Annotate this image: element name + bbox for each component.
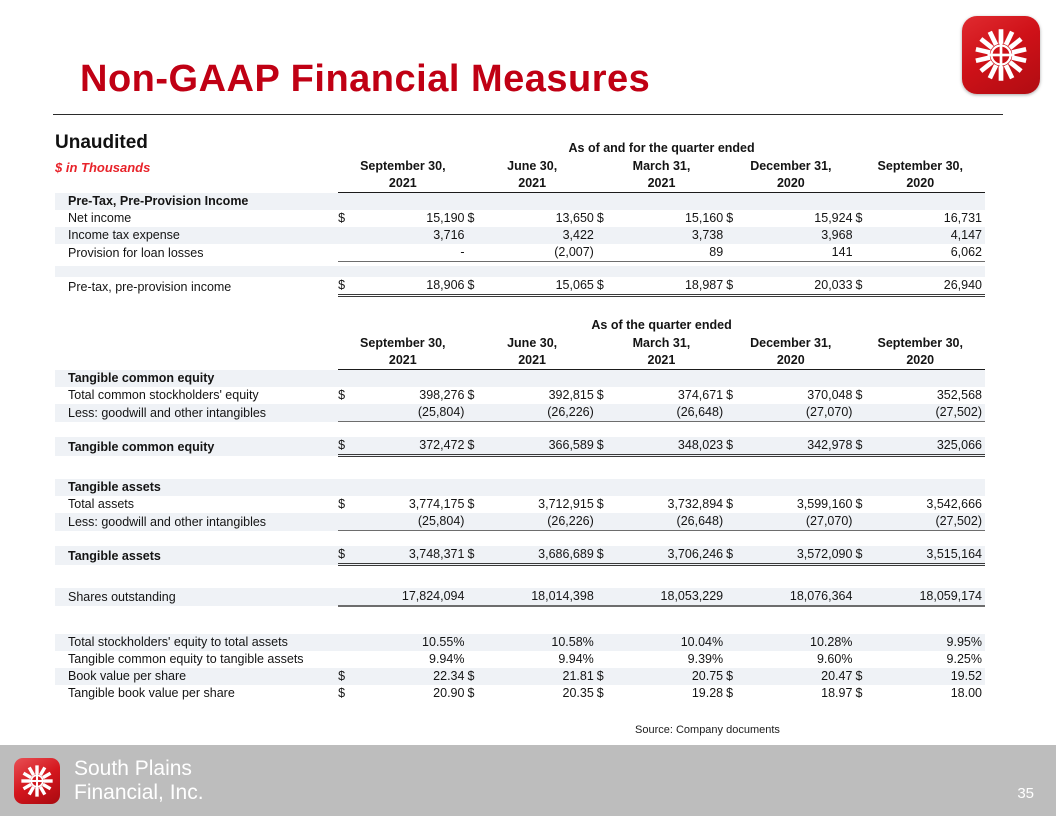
cell-value: 18,076,364 — [744, 588, 855, 606]
currency-symbol: $ — [338, 496, 356, 513]
currency-symbol: $ — [338, 277, 356, 296]
cell-value: 18,014,398 — [486, 588, 597, 606]
cell-value: 370,048 — [744, 387, 855, 404]
cell-value: 366,589 — [486, 437, 597, 456]
cell-value: 18,987 — [615, 277, 726, 296]
cell-value: - — [356, 244, 467, 262]
cell-value: 9.95% — [874, 634, 985, 651]
cell-value: 10.28% — [744, 634, 855, 651]
cell-value: 352,568 — [874, 387, 985, 404]
currency-symbol: $ — [467, 496, 485, 513]
row-label: Tangible book value per share — [55, 685, 338, 702]
cell-value: (27,502) — [874, 513, 985, 531]
company-name: South Plains Financial, Inc. — [74, 757, 204, 805]
currency-symbol: $ — [338, 387, 356, 404]
cell-value: 141 — [745, 244, 856, 262]
table2-col-1: June 30,2021 — [467, 335, 596, 370]
currency-symbol: $ — [597, 387, 615, 404]
cell-value: 13,650 — [486, 210, 597, 227]
cell-value: (2,007) — [486, 244, 597, 262]
row-label: Pre-tax, pre-provision income — [55, 277, 338, 296]
table-row: Net income $ 15,190 $ 13,650 $ 15,160 $ … — [55, 210, 985, 227]
table1-span-header-row: As of and for the quarter ended — [55, 140, 985, 158]
table1-col-0: September 30,2021 — [338, 158, 467, 193]
currency-symbol: $ — [338, 210, 356, 227]
cell-value: 3,738 — [615, 227, 726, 244]
cell-value: 18,906 — [356, 277, 467, 296]
currency-symbol: $ — [597, 668, 615, 685]
ta-gap — [55, 535, 985, 546]
currency-symbol: $ — [597, 685, 615, 702]
table-row: Tangible common equity to tangible asset… — [55, 651, 985, 668]
table1-col-4: September 30,2020 — [856, 158, 985, 193]
cell-value: 18.00 — [874, 685, 985, 702]
cell-value: 9.25% — [874, 651, 985, 668]
currency-symbol: $ — [855, 437, 873, 456]
cell-value: (25,804) — [356, 404, 467, 422]
table-row: Provision for loan losses - (2,007) 89 1… — [55, 244, 985, 262]
cell-value: 19.28 — [615, 685, 726, 702]
currency-symbol: $ — [468, 210, 486, 227]
row-label: Shares outstanding — [55, 588, 338, 606]
currency-symbol: $ — [726, 210, 744, 227]
currency-symbol: $ — [338, 546, 356, 565]
currency-symbol: $ — [467, 685, 485, 702]
shares-gap — [55, 565, 985, 578]
cell-value: 9.39% — [615, 651, 726, 668]
tce-total-row: Tangible common equity $ 372,472 $ 366,5… — [55, 437, 985, 456]
section-gap — [55, 456, 985, 469]
cell-value: 3,422 — [486, 227, 597, 244]
company-logo — [962, 16, 1040, 94]
table-row: Book value per share $ 22.34 $ 21.81 $ 2… — [55, 668, 985, 685]
currency-symbol: $ — [856, 210, 874, 227]
table-row: Total assets $ 3,774,175 $ 3,712,915 $ 3… — [55, 496, 985, 513]
page-number: 35 — [1017, 785, 1034, 802]
table1-column-header-row: September 30,2021 June 30,2021 March 31,… — [55, 158, 985, 193]
section-title: Tangible assets — [55, 479, 338, 496]
currency-symbol: $ — [467, 387, 485, 404]
currency-symbol: $ — [726, 437, 744, 456]
cell-value: (27,070) — [744, 513, 855, 531]
currency-symbol: $ — [597, 496, 615, 513]
pretax-preprovision-table: As of and for the quarter ended Septembe… — [55, 140, 985, 297]
currency-symbol: $ — [726, 277, 744, 296]
footer-logo — [14, 758, 60, 804]
cell-value: 22.34 — [356, 668, 467, 685]
currency-symbol: $ — [467, 546, 485, 565]
table1-span-header: As of and for the quarter ended — [338, 140, 985, 158]
cell-value: 348,023 — [615, 437, 726, 456]
cell-value: (25,804) — [356, 513, 467, 531]
row-label: Tangible common equity — [55, 437, 338, 456]
currency-symbol: $ — [338, 668, 356, 685]
row-label: Total common stockholders' equity — [55, 387, 338, 404]
cell-value: 372,472 — [356, 437, 467, 456]
cell-value: 3,968 — [745, 227, 856, 244]
currency-symbol: $ — [338, 685, 356, 702]
table2-col-4: September 30,2020 — [855, 335, 985, 370]
cell-value: 342,978 — [744, 437, 855, 456]
cell-value: 392,815 — [486, 387, 597, 404]
cell-value: 3,515,164 — [874, 546, 985, 565]
cell-value: 9.94% — [486, 651, 597, 668]
row-label: Tangible common equity to tangible asset… — [55, 651, 338, 668]
cell-value: (26,226) — [486, 404, 597, 422]
currency-symbol: $ — [855, 685, 873, 702]
row-label: Less: goodwill and other intangibles — [55, 404, 338, 422]
cell-value: 325,066 — [874, 437, 985, 456]
cell-value: 10.04% — [615, 634, 726, 651]
cell-value: 10.55% — [356, 634, 467, 651]
ta-section-title-row: Tangible assets — [55, 479, 985, 496]
cell-value: 374,671 — [615, 387, 726, 404]
row-label: Income tax expense — [55, 227, 338, 244]
cell-value: 20.75 — [615, 668, 726, 685]
cell-value: 15,190 — [356, 210, 467, 227]
cell-value: 398,276 — [356, 387, 467, 404]
cell-value: 15,924 — [745, 210, 856, 227]
cell-value: 6,062 — [874, 244, 985, 262]
table-row: Income tax expense 3,716 3,422 3,738 3,9… — [55, 227, 985, 244]
ratios-gap — [55, 612, 985, 623]
currency-symbol: $ — [467, 668, 485, 685]
section-gap-2 — [55, 468, 985, 479]
cell-value: 18.97 — [744, 685, 855, 702]
source-note: Source: Company documents — [635, 724, 780, 736]
currency-symbol: $ — [597, 210, 615, 227]
currency-symbol: $ — [726, 546, 744, 565]
currency-symbol: $ — [855, 546, 873, 565]
ratios-gap-2 — [55, 623, 985, 634]
page-title: Non-GAAP Financial Measures — [80, 58, 650, 101]
table1-col-1: June 30,2021 — [468, 158, 597, 193]
shares-outstanding-row: Shares outstanding 17,824,094 18,014,398… — [55, 588, 985, 606]
currency-symbol: $ — [855, 668, 873, 685]
cell-value: 3,572,090 — [744, 546, 855, 565]
cell-value: 16,731 — [874, 210, 985, 227]
currency-symbol: $ — [856, 277, 874, 296]
company-name-line1: South Plains — [74, 757, 204, 781]
cell-value: 10.58% — [486, 634, 597, 651]
table-row: Total stockholders' equity to total asse… — [55, 634, 985, 651]
currency-symbol: $ — [597, 437, 615, 456]
row-label: Book value per share — [55, 668, 338, 685]
currency-symbol: $ — [855, 496, 873, 513]
cell-value: 19.52 — [874, 668, 985, 685]
spoked-wheel-icon — [20, 764, 54, 798]
table2-col-2: March 31,2021 — [597, 335, 726, 370]
cell-value: 3,599,160 — [744, 496, 855, 513]
tce-gap — [55, 426, 985, 437]
currency-symbol: $ — [726, 685, 744, 702]
table1-gap — [55, 266, 985, 277]
row-label: Total stockholders' equity to total asse… — [55, 634, 338, 651]
cell-value: (27,502) — [874, 404, 985, 422]
cell-value: 3,686,689 — [486, 546, 597, 565]
table2-col-3: December 31,2020 — [726, 335, 855, 370]
cell-value: 9.60% — [744, 651, 855, 668]
table1-section-title: Pre-Tax, Pre-Provision Income — [55, 193, 338, 211]
currency-symbol: $ — [468, 277, 486, 296]
currency-symbol: $ — [726, 496, 744, 513]
tce-section-title-row: Tangible common equity — [55, 370, 985, 388]
currency-symbol: $ — [467, 437, 485, 456]
row-label: Provision for loan losses — [55, 244, 338, 262]
cell-value: 3,774,175 — [356, 496, 467, 513]
cell-value: 89 — [615, 244, 726, 262]
table1-section-title-row: Pre-Tax, Pre-Provision Income — [55, 193, 985, 211]
cell-value: 15,065 — [486, 277, 597, 296]
currency-symbol: $ — [726, 668, 744, 685]
cell-value: 3,706,246 — [615, 546, 726, 565]
row-label: Net income — [55, 210, 338, 227]
cell-value: 20,033 — [745, 277, 856, 296]
table-row: Less: goodwill and other intangibles (25… — [55, 513, 985, 531]
cell-value: 3,732,894 — [615, 496, 726, 513]
cell-value: 9.94% — [356, 651, 467, 668]
table1-col-2: March 31,2021 — [597, 158, 726, 193]
table2-span-header-row: As of the quarter ended — [55, 317, 985, 335]
row-label: Total assets — [55, 496, 338, 513]
tangible-measures-table: As of the quarter ended September 30,202… — [55, 317, 985, 702]
ta-total-row: Tangible assets $ 3,748,371 $ 3,686,689 … — [55, 546, 985, 565]
cell-value: 20.35 — [486, 685, 597, 702]
table-row: Total common stockholders' equity $ 398,… — [55, 387, 985, 404]
table1-total-row: Pre-tax, pre-provision income $ 18,906 $… — [55, 277, 985, 296]
spoked-wheel-icon — [973, 27, 1029, 83]
shares-gap-2 — [55, 577, 985, 588]
cell-value: 26,940 — [874, 277, 985, 296]
cell-value: (26,648) — [615, 404, 726, 422]
table-row: Less: goodwill and other intangibles (25… — [55, 404, 985, 422]
cell-value: (26,648) — [615, 513, 726, 531]
footer-bar: South Plains Financial, Inc. 35 — [0, 745, 1056, 816]
currency-symbol: $ — [597, 546, 615, 565]
section-title: Tangible common equity — [55, 370, 338, 388]
cell-value: 3,748,371 — [356, 546, 467, 565]
cell-value: 3,716 — [356, 227, 467, 244]
table-row: Tangible book value per share $ 20.90 $ … — [55, 685, 985, 702]
cell-value: 21.81 — [486, 668, 597, 685]
cell-value: (26,226) — [486, 513, 597, 531]
table2-column-header-row: September 30,2021 June 30,2021 March 31,… — [55, 335, 985, 370]
cell-value: 4,147 — [874, 227, 985, 244]
cell-value: (27,070) — [744, 404, 855, 422]
table2-col-0: September 30,2021 — [338, 335, 467, 370]
cell-value: 20.47 — [744, 668, 855, 685]
currency-symbol: $ — [855, 387, 873, 404]
cell-value: 20.90 — [356, 685, 467, 702]
cell-value: 3,712,915 — [486, 496, 597, 513]
cell-value: 18,059,174 — [874, 588, 985, 606]
cell-value: 3,542,666 — [874, 496, 985, 513]
title-divider — [53, 114, 1003, 115]
cell-value: 15,160 — [615, 210, 726, 227]
table2-span-header: As of the quarter ended — [338, 317, 985, 335]
currency-symbol: $ — [338, 437, 356, 456]
table1-col-3: December 31,2020 — [726, 158, 855, 193]
currency-symbol: $ — [597, 277, 615, 296]
row-label: Less: goodwill and other intangibles — [55, 513, 338, 531]
company-name-line2: Financial, Inc. — [74, 781, 204, 805]
cell-value: 17,824,094 — [356, 588, 467, 606]
cell-value: 18,053,229 — [615, 588, 726, 606]
row-label: Tangible assets — [55, 546, 338, 565]
currency-symbol: $ — [726, 387, 744, 404]
